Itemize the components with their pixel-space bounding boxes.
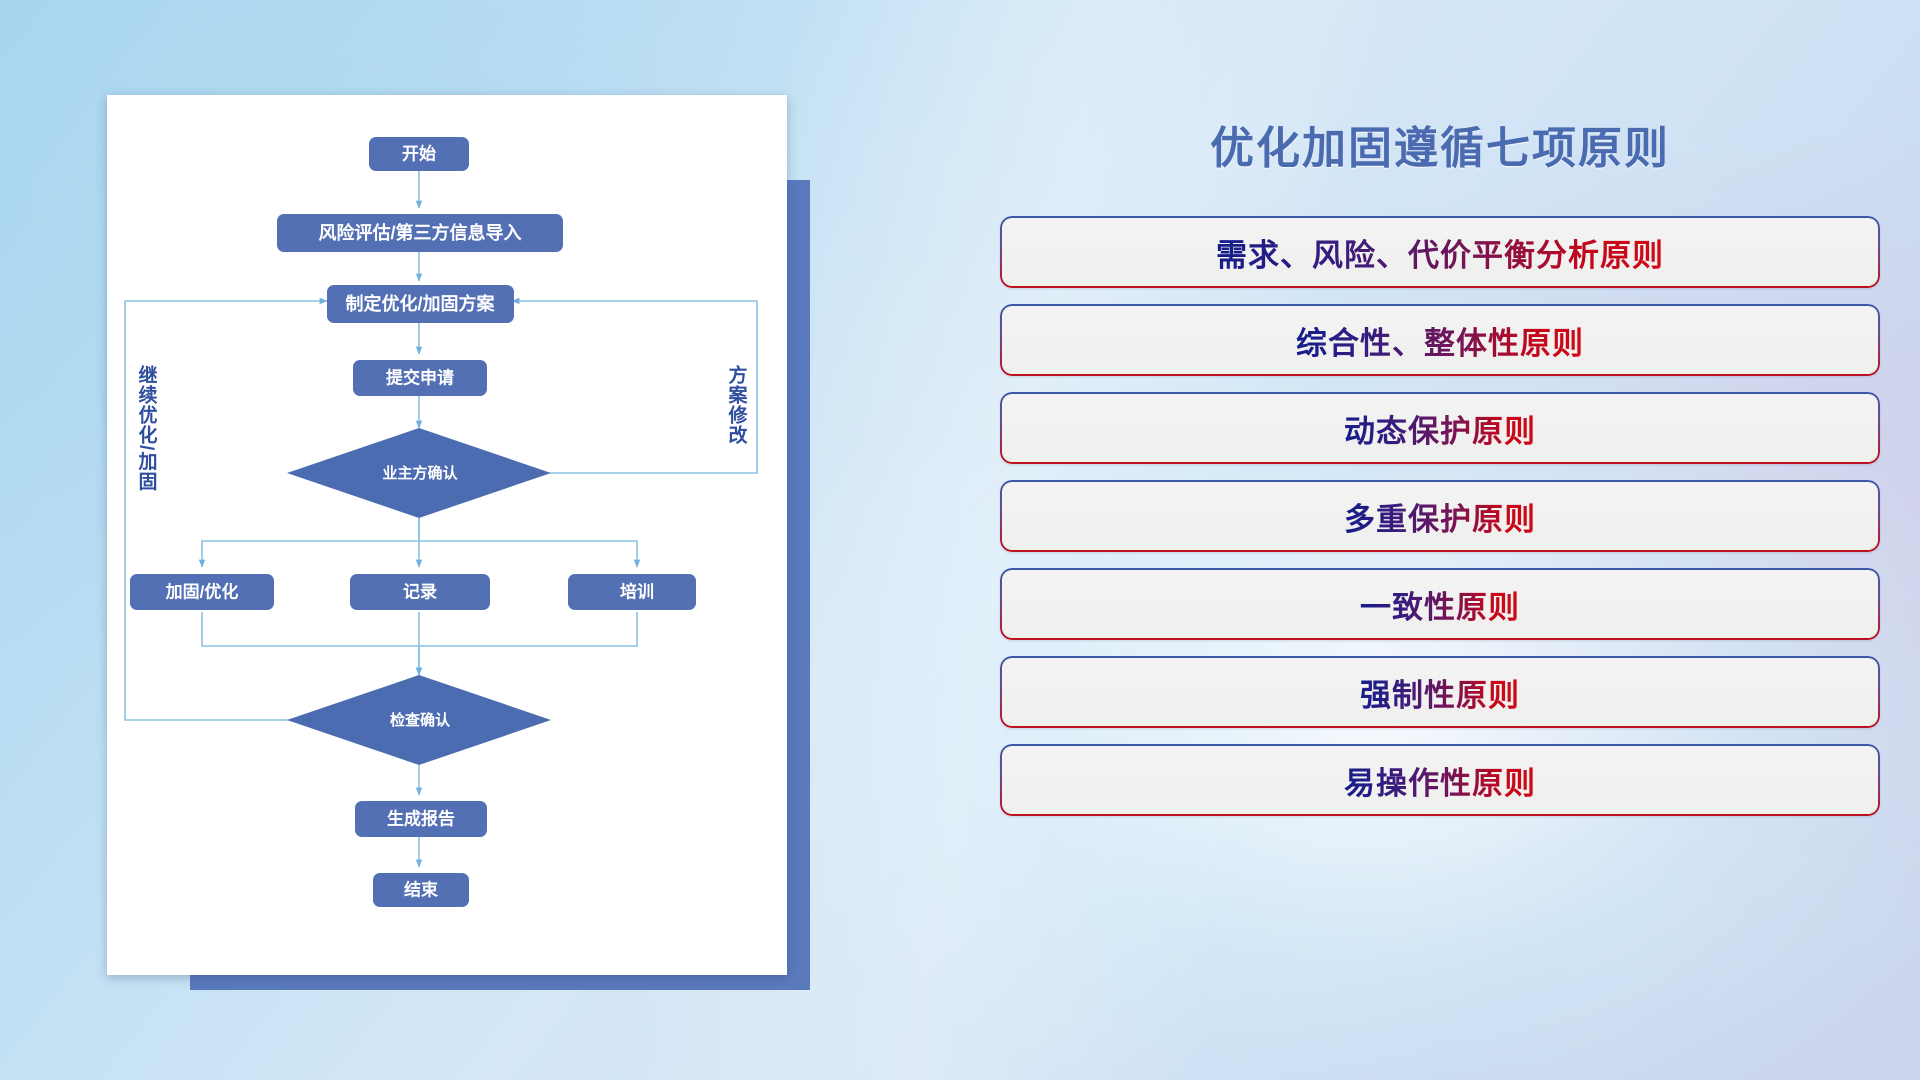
flow-node-submit-label: 提交申请 (386, 367, 454, 387)
flow-node-training[interactable]: 培训 (568, 574, 696, 610)
flow-node-plan-label: 制定优化/加固方案 (345, 293, 495, 314)
principles-list: 需求、风险、代价平衡分析原则 综合性、整体性原则 动态保护原则 多重保护原则 一… (1000, 216, 1880, 816)
principle-card-label: 一致性原则 (1360, 582, 1520, 627)
principle-card-label: 强制性原则 (1360, 670, 1520, 715)
flow-edge-label-continue-optimize: 继续优化/加固 (136, 364, 159, 492)
flow-node-report[interactable]: 生成报告 (355, 801, 487, 837)
principle-card-label: 易操作性原则 (1344, 758, 1536, 803)
flow-node-risk-label: 风险评估/第三方信息导入 (319, 222, 522, 243)
flow-node-start[interactable]: 开始 (369, 137, 469, 171)
flow-node-record-label: 记录 (403, 582, 437, 601)
principle-card[interactable]: 多重保护原则 (1000, 480, 1880, 552)
flow-node-inspect[interactable]: 检查确认 (287, 675, 551, 765)
principle-card-label: 需求、风险、代价平衡分析原则 (1216, 230, 1664, 275)
flow-node-training-label: 培训 (620, 581, 654, 601)
principle-card-label: 动态保护原则 (1344, 406, 1536, 451)
flowchart-diagram: 开始 风险评估/第三方信息导入 制定优化/加固方案 提交申请 业主方确认 加固/… (107, 95, 787, 975)
flow-node-end-label: 结束 (404, 879, 438, 899)
flow-node-report-label: 生成报告 (387, 808, 455, 828)
principle-card[interactable]: 一致性原则 (1000, 568, 1880, 640)
flow-node-end[interactable]: 结束 (373, 873, 469, 907)
principle-card[interactable]: 需求、风险、代价平衡分析原则 (1000, 216, 1880, 288)
flowchart-connectors (125, 171, 757, 867)
flow-edge-label-plan-revision: 方案修改 (726, 364, 749, 445)
principle-card[interactable]: 动态保护原则 (1000, 392, 1880, 464)
principle-card[interactable]: 易操作性原则 (1000, 744, 1880, 816)
flow-node-risk[interactable]: 风险评估/第三方信息导入 (277, 214, 563, 252)
flow-node-submit[interactable]: 提交申请 (353, 360, 487, 396)
flow-node-ownercheck-label: 业主方确认 (382, 464, 458, 482)
flowchart-nodes: 开始 风险评估/第三方信息导入 制定优化/加固方案 提交申请 业主方确认 加固/… (130, 137, 696, 907)
principle-card[interactable]: 综合性、整体性原则 (1000, 304, 1880, 376)
principle-card-label: 多重保护原则 (1344, 494, 1536, 539)
flow-node-record[interactable]: 记录 (350, 574, 490, 610)
principle-card-label: 综合性、整体性原则 (1296, 318, 1584, 363)
principle-card[interactable]: 强制性原则 (1000, 656, 1880, 728)
flow-node-reinforce-label: 加固/优化 (165, 581, 239, 601)
flow-node-start-label: 开始 (402, 143, 436, 163)
flow-node-ownercheck[interactable]: 业主方确认 (287, 428, 551, 518)
flow-node-inspect-label: 检查确认 (390, 711, 451, 729)
flow-node-plan[interactable]: 制定优化/加固方案 (327, 285, 514, 323)
principles-panel: 优化加固遵循七项原则 需求、风险、代价平衡分析原则 综合性、整体性原则 动态保护… (1000, 95, 1880, 1005)
principles-title: 优化加固遵循七项原则 (1000, 112, 1880, 176)
flow-node-reinforce[interactable]: 加固/优化 (130, 574, 274, 610)
